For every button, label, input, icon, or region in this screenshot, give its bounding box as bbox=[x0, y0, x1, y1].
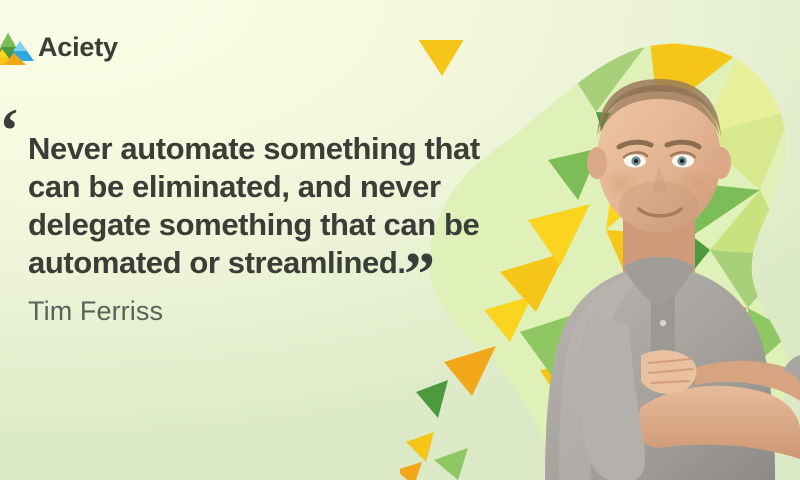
close-quote-mark: ” bbox=[404, 244, 433, 306]
open-quote-mark: ‘ bbox=[0, 100, 18, 162]
brand-name: Aciety bbox=[38, 34, 118, 61]
portrait-photo bbox=[545, 55, 800, 480]
triangle-mountain-logo-icon bbox=[0, 27, 34, 67]
quote-author: Tim Ferriss bbox=[28, 296, 163, 327]
quote-card: Aciety ‘ Never automate something that c… bbox=[0, 0, 800, 480]
brand-logo[interactable]: Aciety bbox=[0, 26, 118, 68]
